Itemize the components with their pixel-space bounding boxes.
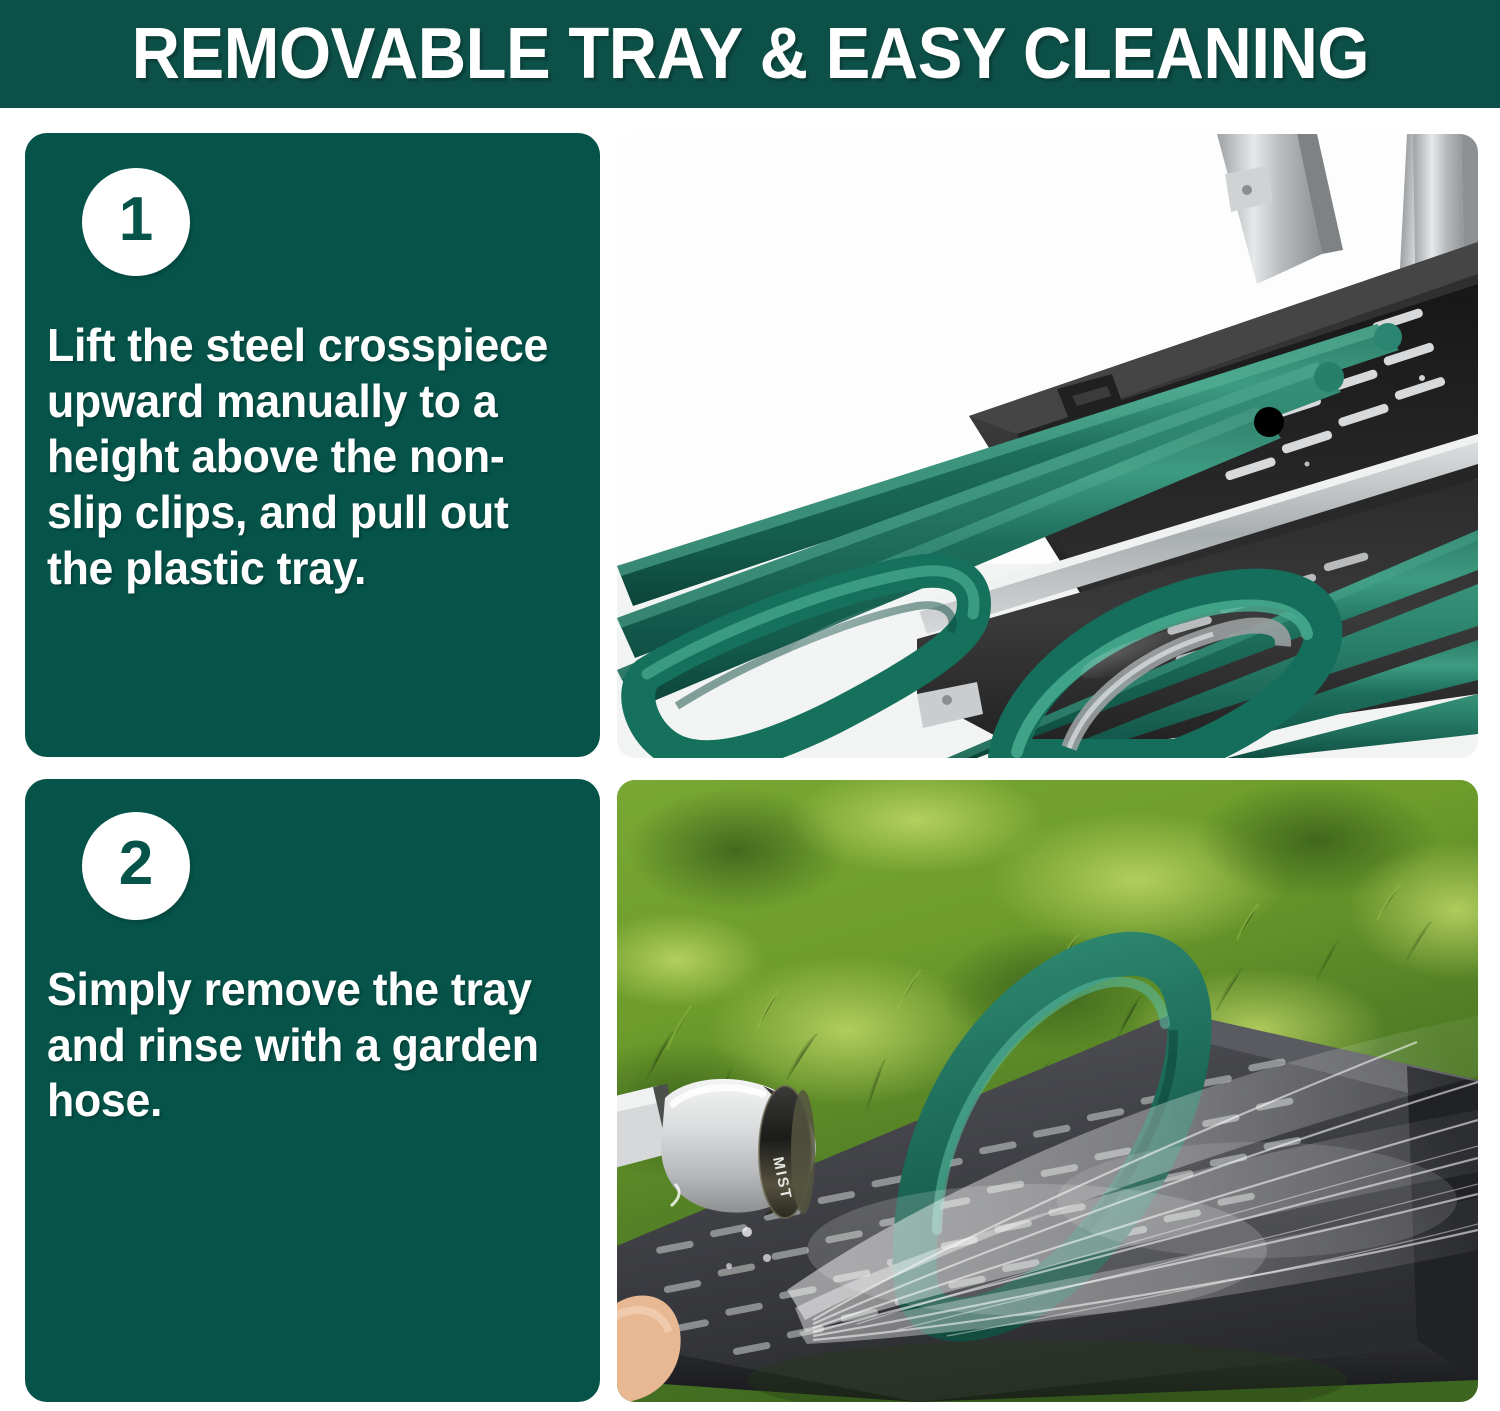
page-title: REMOVABLE TRAY & EASY CLEANING bbox=[131, 18, 1368, 90]
step-1-photo bbox=[617, 134, 1478, 758]
step-2-badge: 2 bbox=[82, 812, 190, 920]
step-2-photo: MIST bbox=[617, 780, 1478, 1402]
step-1-badge: 1 bbox=[82, 168, 190, 276]
step-1-photo-artwork bbox=[617, 134, 1478, 758]
header-banner: REMOVABLE TRAY & EASY CLEANING bbox=[0, 0, 1500, 108]
step-2-photo-artwork: MIST bbox=[617, 780, 1478, 1402]
marketing-infographic: REMOVABLE TRAY & EASY CLEANING 1 Lift th… bbox=[0, 0, 1500, 1411]
step-2-description: Simply remove the tray and rinse with a … bbox=[47, 962, 571, 1129]
step-1-description: Lift the steel crosspiece upward manuall… bbox=[47, 318, 571, 596]
step-1-number: 1 bbox=[119, 189, 153, 251]
step-2-number: 2 bbox=[119, 833, 153, 895]
